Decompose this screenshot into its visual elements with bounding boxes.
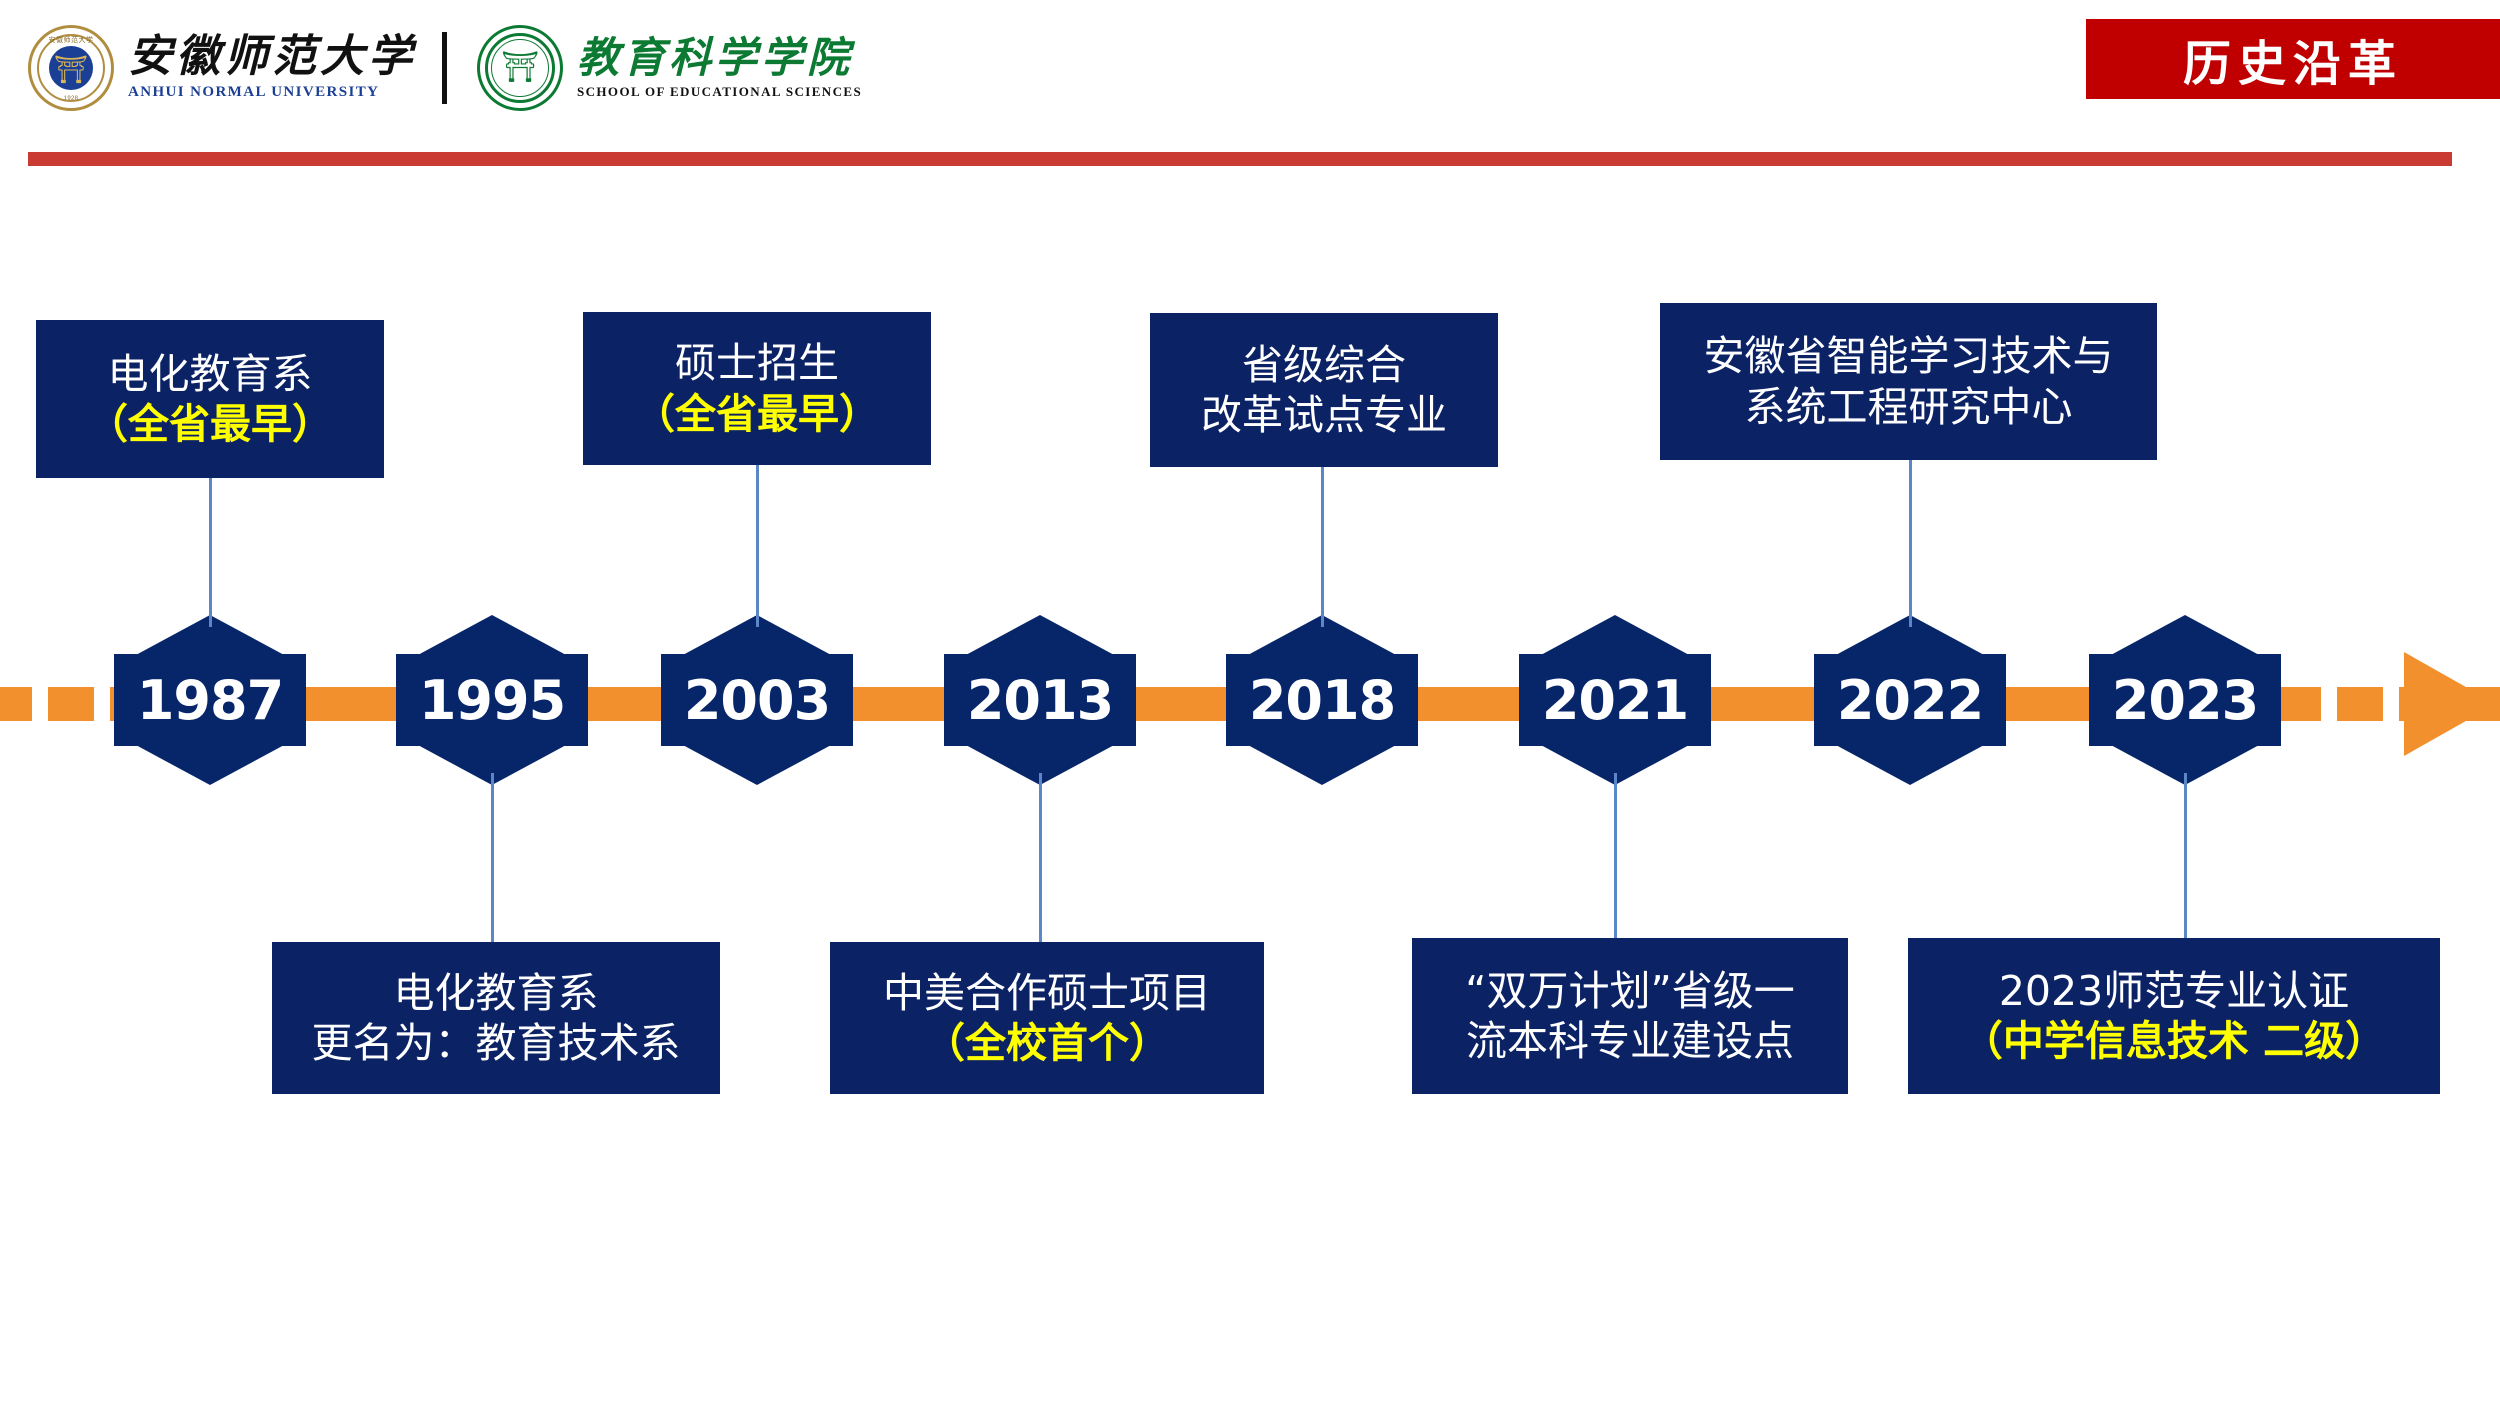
timeline-track-segment [2002, 687, 2093, 721]
timeline-connector-1995 [491, 773, 494, 942]
history-timeline: 1987电化教育系（全省最早）1995电化教育系更名为：教育技术系2003硕士招… [0, 0, 2500, 1406]
callout-highlight-line: （全省最早） [87, 399, 333, 449]
timeline-year-label: 2003 [661, 615, 853, 785]
callout-line: 省级综合 [1242, 340, 1406, 390]
timeline-year-label: 1987 [114, 615, 306, 785]
timeline-node-2003[interactable]: 2003 [661, 615, 853, 785]
timeline-callout-2021[interactable]: “双万计划”省级一流本科专业建设点 [1412, 938, 1848, 1094]
timeline-callout-2023[interactable]: 2023师范专业认证（中学信息技术 二级） [1908, 938, 2440, 1094]
timeline-callout-1987[interactable]: 电化教育系（全省最早） [36, 320, 384, 478]
timeline-node-2018[interactable]: 2018 [1226, 615, 1418, 785]
timeline-connector-2022 [1909, 460, 1912, 627]
callout-line: 电化教育系 [108, 349, 313, 399]
timeline-node-1995[interactable]: 1995 [396, 615, 588, 785]
timeline-track-segment [302, 687, 400, 721]
callout-line: 安徽省智能学习技术与 [1704, 331, 2114, 381]
timeline-track-dash [48, 687, 94, 721]
timeline-callout-1995[interactable]: 电化教育系更名为：教育技术系 [272, 942, 720, 1094]
callout-highlight-line: （全校首个） [924, 1018, 1170, 1068]
timeline-connector-2021 [1614, 773, 1617, 938]
timeline-track-segment [849, 687, 948, 721]
callout-line: 更名为：教育技术系 [312, 1018, 681, 1068]
timeline-node-2022[interactable]: 2022 [1814, 615, 2006, 785]
timeline-connector-2013 [1039, 773, 1042, 942]
timeline-year-label: 2022 [1814, 615, 2006, 785]
callout-line: 硕士招生 [675, 338, 839, 388]
timeline-node-2023[interactable]: 2023 [2089, 615, 2281, 785]
timeline-callout-2003[interactable]: 硕士招生（全省最早） [583, 312, 931, 465]
timeline-year-label: 1995 [396, 615, 588, 785]
callout-line: 系统工程研究中心 [1745, 382, 2073, 432]
timeline-node-2021[interactable]: 2021 [1519, 615, 1711, 785]
timeline-track-dash [2337, 687, 2383, 721]
timeline-track-segment [1707, 687, 1818, 721]
timeline-arrow-icon [2404, 652, 2496, 756]
timeline-node-1987[interactable]: 1987 [114, 615, 306, 785]
callout-highlight-line: （全省最早） [634, 389, 880, 439]
timeline-node-2013[interactable]: 2013 [944, 615, 1136, 785]
timeline-callout-2013[interactable]: 中美合作硕士项目（全校首个） [830, 942, 1264, 1094]
callout-line: 2023师范专业认证 [1999, 966, 2349, 1016]
timeline-year-label: 2021 [1519, 615, 1711, 785]
callout-line: 流本科专业建设点 [1466, 1016, 1794, 1066]
timeline-track-segment [1414, 687, 1523, 721]
timeline-year-label: 2013 [944, 615, 1136, 785]
timeline-connector-2018 [1321, 467, 1324, 627]
callout-line: 电化教育系 [394, 968, 599, 1018]
timeline-connector-2023 [2184, 773, 2187, 938]
timeline-callout-2018[interactable]: 省级综合改革试点专业 [1150, 313, 1498, 467]
timeline-connector-1987 [209, 478, 212, 627]
timeline-track-dash [2277, 687, 2321, 721]
callout-line: “双万计划”省级一 [1465, 966, 1794, 1016]
callout-highlight-line: （中学信息技术 二级） [1962, 1016, 2386, 1066]
timeline-connector-2003 [756, 465, 759, 627]
timeline-track-dash [0, 687, 32, 721]
callout-line: 中美合作硕士项目 [883, 968, 1211, 1018]
timeline-year-label: 2023 [2089, 615, 2281, 785]
timeline-year-label: 2018 [1226, 615, 1418, 785]
timeline-track-segment [584, 687, 665, 721]
callout-line: 改革试点专业 [1201, 390, 1447, 440]
timeline-track-segment [1132, 687, 1230, 721]
timeline-callout-2022[interactable]: 安徽省智能学习技术与系统工程研究中心 [1660, 303, 2157, 460]
